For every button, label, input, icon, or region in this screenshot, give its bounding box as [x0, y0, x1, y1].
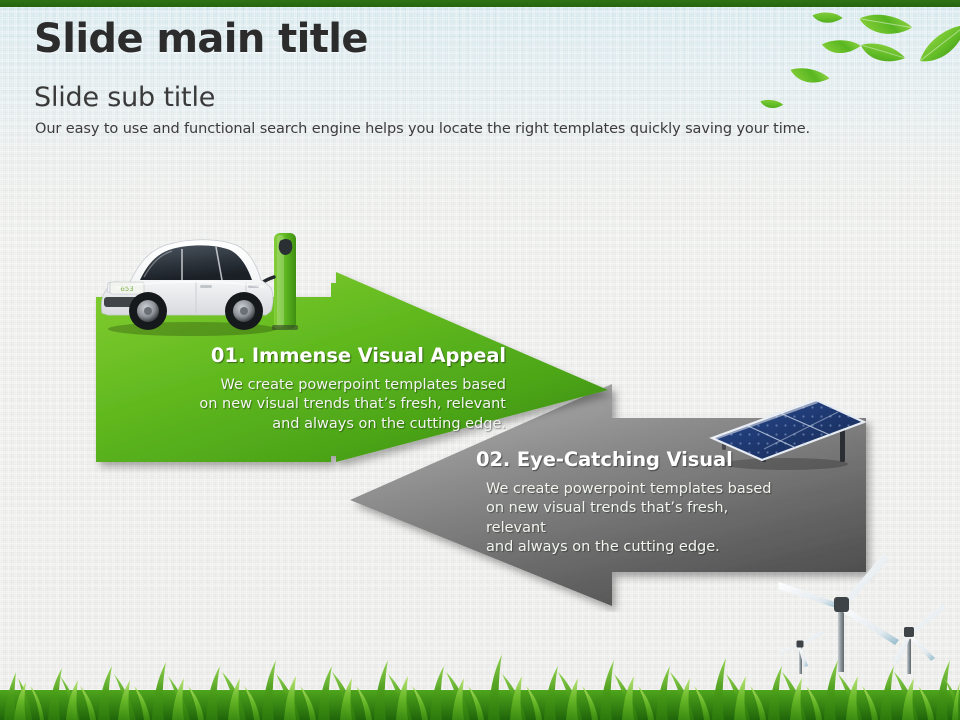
- car-wheel: [225, 292, 263, 330]
- arrow-gray-body-line: and always on the cutting edge.: [486, 538, 780, 557]
- arrow-gray-text-block: 02. Eye-Catching Visual We create powerp…: [430, 448, 780, 557]
- arrow-gray-body: We create powerpoint templates based on …: [486, 480, 780, 557]
- page-title: Slide main title: [34, 18, 914, 61]
- arrow-green-body-line: and always on the cutting edge.: [196, 415, 506, 434]
- slide-canvas: Slide main title Slide sub title Our eas…: [0, 0, 960, 720]
- arrow-green-text-block: 01. Immense Visual Appeal We create powe…: [196, 344, 506, 434]
- arrow-green-body-line: We create powerpoint templates based: [196, 376, 506, 395]
- grass-border-decoration: [0, 632, 960, 720]
- page-description: Our easy to use and functional search en…: [35, 120, 914, 138]
- arrow-gray-heading: 02. Eye-Catching Visual: [476, 448, 780, 471]
- arrow-green-body: We create powerpoint templates based on …: [196, 376, 506, 434]
- arrow-green-heading: 01. Immense Visual Appeal: [196, 344, 506, 367]
- arrow-gray-body-line: on new visual trends that’s fresh, relev…: [486, 499, 780, 538]
- slide-header: Slide main title Slide sub title Our eas…: [34, 18, 914, 138]
- leaf-icon: [913, 23, 960, 65]
- electric-car-image: 653: [96, 225, 318, 337]
- page-subtitle: Slide sub title: [34, 83, 914, 113]
- arrow-gray-body-line: We create powerpoint templates based: [486, 480, 780, 499]
- arrow-green-body-line: on new visual trends that’s fresh, relev…: [196, 395, 506, 414]
- car-wheel: [129, 292, 167, 330]
